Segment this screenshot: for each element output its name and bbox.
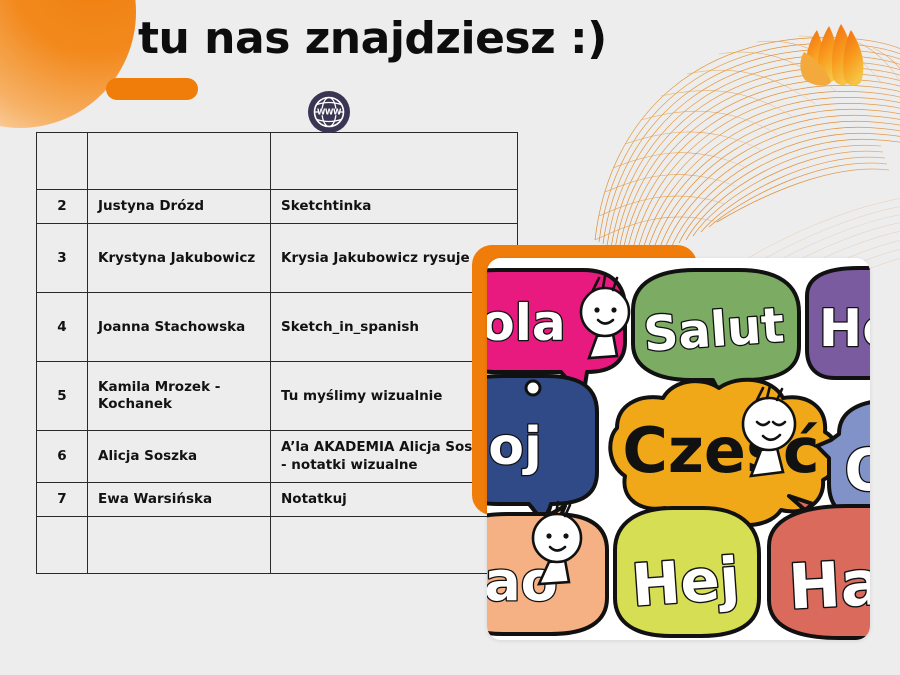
row-channel-cell	[271, 133, 518, 190]
greetings-photo-card: ola Salut Hel oj Cześć O	[487, 258, 870, 640]
table-row: 5 Kamila Mrozek - Kochanek Tu myślimy wi…	[37, 362, 518, 431]
row-name-cell	[88, 517, 271, 574]
svg-text:ola: ola	[487, 294, 566, 352]
table-row	[37, 517, 518, 574]
speech-bubbles-illustration: ola Salut Hel oj Cześć O	[487, 258, 870, 640]
globe-www-icon: WWW	[307, 90, 351, 134]
svg-text:Hej: Hej	[629, 544, 741, 619]
table-row: 6 Alicja Soszka A’la AKADEMIA Alicja Sos…	[37, 431, 518, 483]
contacts-table-container: 2 Justyna Drózd Sketchtinka 3 Krystyna J…	[36, 132, 456, 574]
row-number-cell: 7	[37, 482, 88, 516]
row-name-cell: Ewa Warsińska	[88, 482, 271, 516]
row-channel-cell: Sketchtinka	[271, 190, 518, 224]
svg-text:Salut: Salut	[642, 297, 786, 363]
row-name-cell	[88, 133, 271, 190]
row-name-cell: Kamila Mrozek - Kochanek	[88, 362, 271, 431]
contacts-table: 2 Justyna Drózd Sketchtinka 3 Krystyna J…	[36, 132, 518, 574]
table-row: 4 Joanna Stachowska Sketch_in_spanish	[37, 293, 518, 362]
row-number-cell: 5	[37, 362, 88, 431]
page-title: tu nas znajdziesz :)	[138, 15, 607, 63]
table-row: 7 Ewa Warsińska Notatkuj	[37, 482, 518, 516]
decorative-orange-blob	[0, 0, 136, 128]
slide-canvas: tu nas znajdziesz :) WWW 2	[0, 0, 900, 675]
row-number-cell: 3	[37, 224, 88, 293]
row-name-cell: Alicja Soszka	[88, 431, 271, 483]
row-number-cell: 6	[37, 431, 88, 483]
row-number-cell: 4	[37, 293, 88, 362]
row-channel-cell	[271, 517, 518, 574]
row-name-cell: Justyna Drózd	[88, 190, 271, 224]
svg-text:oj: oj	[488, 417, 542, 477]
row-name-cell: Joanna Stachowska	[88, 293, 271, 362]
svg-text:Hallo: Hallo	[787, 541, 870, 623]
svg-text:WWW: WWW	[317, 107, 342, 116]
svg-text:Ol: Ol	[844, 436, 870, 504]
svg-text:Hel: Hel	[819, 299, 870, 359]
table-row: 3 Krystyna Jakubowicz Krysia Jakubowicz …	[37, 224, 518, 293]
row-number-cell	[37, 133, 88, 190]
row-name-cell: Krystyna Jakubowicz	[88, 224, 271, 293]
table-row	[37, 133, 518, 190]
row-number-cell: 2	[37, 190, 88, 224]
table-row: 2 Justyna Drózd Sketchtinka	[37, 190, 518, 224]
flame-accent-icon	[800, 24, 863, 86]
title-underline-bar	[106, 78, 198, 100]
row-number-cell	[37, 517, 88, 574]
